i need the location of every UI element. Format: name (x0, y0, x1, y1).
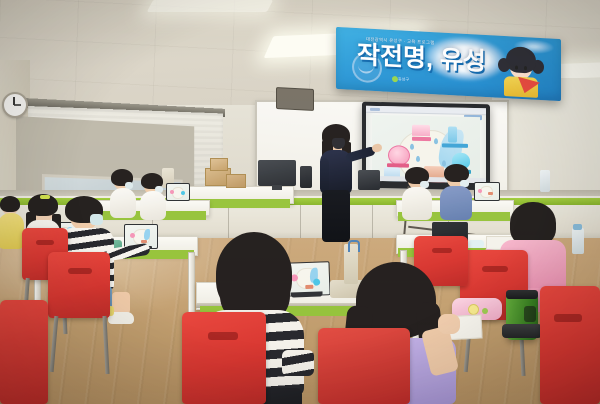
map-poi-label (442, 143, 468, 148)
classroom-chair[interactable] (0, 300, 48, 404)
face-mask (332, 138, 345, 149)
cartoon-girl-mascot (496, 44, 548, 99)
browser-tab (370, 107, 380, 110)
desktop-monitor (258, 160, 296, 186)
chair-backrest (48, 252, 110, 318)
mascot-eye (524, 66, 527, 70)
event-banner: 대전광역시 유성구 · 교육 프로그램 작전명, 유성 유성구 (336, 27, 561, 101)
tablet-screen[interactable] (474, 182, 500, 201)
teacher-arm (320, 158, 329, 192)
pencil-case-charm (468, 304, 479, 315)
map-pin-icon[interactable] (410, 144, 414, 150)
map-poi-label (412, 137, 431, 141)
student-leg (112, 292, 130, 314)
ceiling-light-panel (147, 0, 273, 12)
map-poi-temple-landmark[interactable] (412, 125, 430, 136)
banner-title: 작전명, 유성 (357, 42, 486, 75)
chair-backrest (318, 328, 410, 404)
hair-clip (40, 195, 50, 199)
bottle-cap (573, 224, 582, 230)
classroom-chair[interactable] (540, 286, 600, 404)
classroom-chair[interactable] (318, 328, 410, 404)
mascot-eye (515, 66, 518, 70)
teacher-presenting (316, 126, 362, 242)
tumbler-strap (502, 324, 542, 338)
classroom-chair[interactable] (48, 252, 110, 318)
student-blue-mid (440, 168, 472, 220)
app-toolbar (366, 106, 486, 116)
tablet-device[interactable] (166, 183, 188, 199)
wall-clock (2, 92, 28, 118)
chair-backrest (540, 286, 600, 404)
student-white-mid (402, 170, 432, 220)
classroom-chair[interactable] (182, 312, 266, 404)
pencil-case-charm (482, 308, 488, 314)
tumbler-lid (506, 290, 538, 299)
student-shirt (402, 187, 432, 220)
teacher-pose: pointing at smartboard (0, 0, 10, 1)
student-shirt (140, 191, 166, 220)
water-bottle (572, 228, 584, 254)
face-mask (468, 240, 484, 248)
cardboard-boxes (226, 174, 246, 188)
student-shirt (0, 213, 24, 249)
map-pin-icon[interactable] (434, 138, 438, 144)
tablet-screen[interactable] (166, 183, 190, 201)
chair-backrest (182, 312, 266, 404)
student-arm (282, 350, 314, 376)
mascot-hair (506, 46, 536, 74)
chair-backrest (0, 300, 48, 404)
classroom-photo: 대전광역시 유성구 · 교육 프로그램 작전명, 유성 유성구 (0, 0, 600, 404)
map-pin-icon[interactable] (442, 160, 446, 166)
face-mask (90, 214, 103, 225)
equipment-case (300, 166, 312, 188)
tumbler-handle (524, 306, 536, 322)
bag-handle (348, 240, 360, 252)
student-hand (438, 314, 460, 334)
monitor-stand (272, 185, 282, 190)
map-pin-icon[interactable] (416, 156, 420, 162)
cardboard-boxes (210, 158, 228, 171)
student-hair (0, 196, 20, 212)
teacher-pants (322, 190, 350, 242)
water-bottle (540, 170, 550, 192)
banner-org-name: 유성구 (398, 76, 409, 83)
desk-leg (188, 252, 195, 314)
student-shirt (440, 186, 472, 220)
student-white-left (140, 176, 166, 220)
map-poi-tower-landmark[interactable] (448, 126, 457, 142)
tablet-device[interactable] (474, 182, 498, 199)
wall-speaker (276, 87, 314, 111)
